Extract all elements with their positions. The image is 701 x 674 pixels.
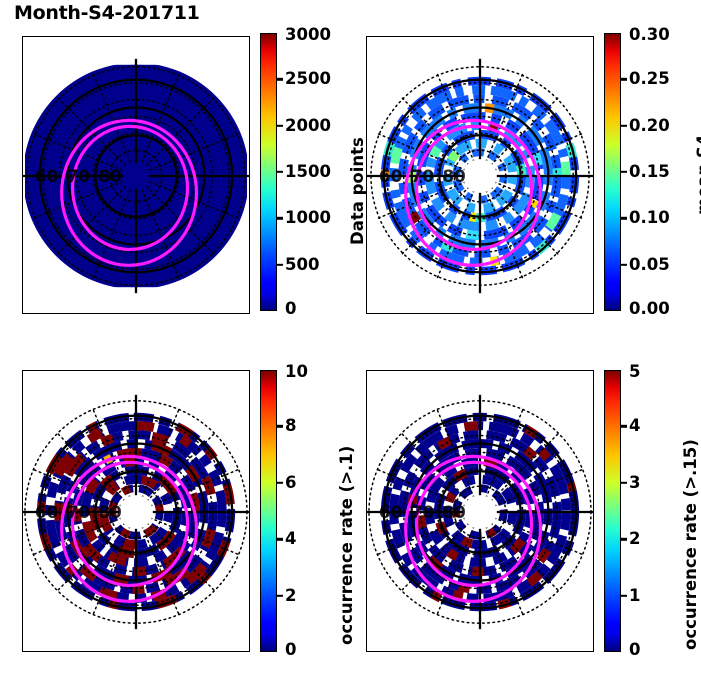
lat-label-80: 80 (442, 502, 465, 522)
colorbar-label-mean-s4: mean S4 (694, 135, 701, 215)
lat-label-60: 60 (379, 166, 402, 186)
colorbar-ticks-data-points: 3000 2500 2000 1500 1000 500 0 (277, 33, 337, 311)
figure-canvas: Month-S4-201711 (0, 0, 701, 674)
cb2-tick-010: 0.10 (629, 210, 670, 227)
cb1-tick-1500: 1500 (285, 164, 331, 181)
cb4-tick-2: 2 (629, 531, 640, 548)
polar-plot-mean-s4: 60 70 80 (367, 37, 593, 313)
cb3-tick-10: 10 (285, 364, 308, 381)
panel-data-points: 60 70 80 (22, 36, 250, 314)
cb4-tick-0: 0 (629, 642, 640, 659)
cb3-tick-2: 2 (285, 587, 296, 604)
cb3-tick-6: 6 (285, 475, 296, 492)
lat-label-60: 60 (379, 502, 402, 522)
cb2-tick-005: 0.05 (629, 256, 670, 273)
cb4-tick-1: 1 (629, 587, 640, 604)
colorbar-ticks-occ-015: 5 4 3 2 1 0 (621, 370, 681, 652)
lat-label-70: 70 (411, 502, 434, 522)
polar-svg-2: 60 70 80 (367, 37, 593, 313)
cb2-tick-030: 0.30 (629, 27, 670, 44)
polar-svg-1: 60 70 80 (23, 37, 249, 313)
cb2-tick-020: 0.20 (629, 117, 670, 134)
cb4-tick-4: 4 (629, 418, 640, 435)
cb4-tick-3: 3 (629, 475, 640, 492)
cb3-tick-8: 8 (285, 418, 296, 435)
colorbar-occ-01 (260, 370, 277, 652)
cb3-tick-4: 4 (285, 531, 296, 548)
lat-label-60: 60 (35, 166, 58, 186)
polar-plot-occ-015: 60 70 80 (367, 371, 593, 651)
panel-occurrence-rate-015: 60 70 80 (366, 370, 594, 652)
cb1-tick-0: 0 (285, 301, 296, 318)
cb2-tick-015: 0.15 (629, 164, 670, 181)
colorbar-mean-s4 (604, 33, 621, 311)
polar-plot-occ-01: 60 70 80 (23, 371, 249, 651)
colorbar-data-points (260, 33, 277, 311)
cb4-tick-5: 5 (629, 364, 640, 381)
lat-label-70: 70 (411, 166, 434, 186)
lat-label-70: 70 (67, 166, 90, 186)
colorbar-occ-015 (604, 370, 621, 652)
panel-mean-s4: 60 70 80 (366, 36, 594, 314)
cb2-tick-025: 0.25 (629, 71, 670, 88)
cb1-tick-2000: 2000 (285, 117, 331, 134)
panel-occurrence-rate-01: 60 70 80 (22, 370, 250, 652)
figure-title: Month-S4-201711 (14, 2, 200, 24)
cb1-tick-500: 500 (285, 256, 319, 273)
cb1-tick-2500: 2500 (285, 71, 331, 88)
colorbar-label-occ-015: occurrence rate (>.15) (681, 439, 700, 650)
lat-label-80: 80 (98, 166, 121, 186)
colorbar-label-occ-01: occurrence rate (>.1) (337, 446, 356, 645)
cb1-tick-1000: 1000 (285, 210, 331, 227)
cb2-tick-000: 0.00 (629, 301, 670, 318)
colorbar-label-data-points: Data points (348, 137, 367, 245)
polar-svg-4: 60 70 80 (367, 371, 593, 651)
cb1-tick-3000: 3000 (285, 27, 331, 44)
lat-label-60: 60 (35, 502, 58, 522)
lat-label-80: 80 (442, 166, 465, 186)
lat-label-80: 80 (98, 502, 121, 522)
colorbar-ticks-mean-s4: 0.30 0.25 0.20 0.15 0.10 0.05 0.00 (621, 33, 681, 311)
cb3-tick-0: 0 (285, 642, 296, 659)
lat-label-70: 70 (67, 502, 90, 522)
polar-svg-3: 60 70 80 (23, 371, 249, 651)
colorbar-ticks-occ-01: 10 8 6 4 2 0 (277, 370, 337, 652)
polar-plot-data-points: 60 70 80 (23, 37, 249, 313)
